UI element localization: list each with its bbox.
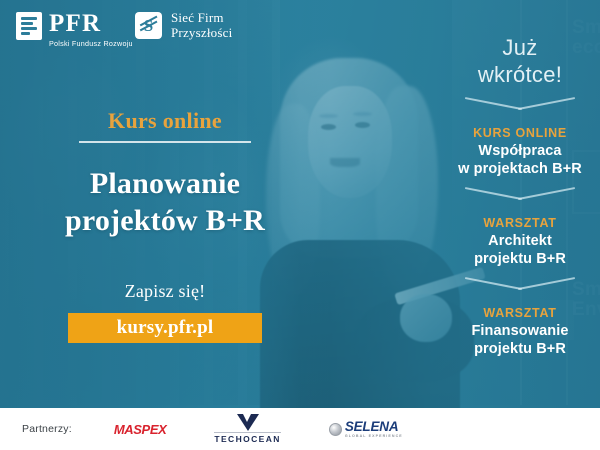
techocean-triangle-icon (237, 414, 259, 431)
list-item[interactable]: WARSZTAT Finansowanie projektu B+R (440, 306, 600, 358)
page-title: Planowanie projektów B+R (0, 165, 330, 239)
pfr-icon-bar (21, 27, 37, 30)
sfp-logo-line1: Sieć Firm (171, 11, 232, 26)
list-item-title-line-2: projektu B+R (440, 340, 600, 358)
kicker-divider (79, 141, 251, 143)
list-item-title-line-1: Architekt (440, 232, 600, 250)
upcoming-list: Już wkrótce! KURS ONLINE Współpraca w pr… (440, 34, 600, 358)
sfp-logo-line2: Przyszłości (171, 26, 232, 41)
techocean-wordmark: TECHOCEAN (214, 432, 280, 445)
coming-soon-line-1: Już (440, 34, 600, 61)
pfr-icon-bar (21, 22, 33, 25)
chevron-stroke-left (465, 187, 522, 200)
list-item-tag: KURS ONLINE (440, 126, 600, 140)
coming-soon-line-2: wkrótce! (440, 61, 600, 88)
partners-label: Partnerzy: (22, 423, 72, 435)
selena-globe-icon (329, 423, 342, 436)
left-content: Kurs online Planowanie projektów B+R Zap… (0, 108, 330, 343)
selena-wordmark-block: SELENA GLOBAL EXPERIENCE (345, 420, 403, 438)
maspex-wordmark-icon[interactable]: MASPEX (114, 422, 167, 437)
list-item-tag: WARSZTAT (440, 306, 600, 320)
pfr-logo: PFR Polski Fundusz Rozwoju (16, 12, 133, 48)
selena-logo[interactable]: SELENA GLOBAL EXPERIENCE (329, 420, 403, 438)
pfr-logo-subtitle: Polski Fundusz Rozwoju (49, 39, 133, 48)
sfp-s-monogram-icon: S (135, 12, 162, 39)
headline-line-2: projektów B+R (0, 202, 330, 239)
triangle-notch (243, 414, 251, 422)
list-item-title: Finansowanie projektu B+R (440, 322, 600, 358)
pfr-icon-bar (21, 17, 37, 20)
pfr-document-icon (16, 12, 42, 40)
cta-lead-text: Zapisz się! (0, 281, 330, 302)
pfr-logo-text: PFR Polski Fundusz Rozwoju (49, 12, 133, 48)
sfp-logo: S Sieć Firm Przyszłości (135, 11, 232, 40)
list-item[interactable]: WARSZTAT Architekt projektu B+R (440, 216, 600, 268)
chevron-down-icon (465, 187, 575, 207)
chevron-stroke-right (518, 97, 575, 110)
partners-footer: Partnerzy: MASPEX TECHOCEAN SELENA GLOBA… (0, 408, 600, 450)
list-item-title-line-2: w projektach B+R (440, 160, 600, 178)
selena-tagline: GLOBAL EXPERIENCE (345, 434, 403, 438)
chevron-stroke-right (518, 187, 575, 200)
promo-banner: Sm eco Sm Env (0, 0, 600, 450)
list-item-tag: WARSZTAT (440, 216, 600, 230)
pfr-logo-name: PFR (49, 12, 133, 36)
list-item-title-line-2: projektu B+R (440, 250, 600, 268)
chevron-down-icon (465, 97, 575, 117)
headline-line-1: Planowanie (0, 165, 330, 202)
list-item-title: Architekt projektu B+R (440, 232, 600, 268)
list-item-title: Współpraca w projektach B+R (440, 142, 600, 178)
chevron-stroke-left (465, 277, 522, 290)
pfr-icon-bar (21, 32, 30, 35)
list-item-title-line-1: Współpraca (440, 142, 600, 160)
sfp-logo-text: Sieć Firm Przyszłości (171, 11, 232, 40)
chevron-down-icon (465, 277, 575, 297)
techocean-logo[interactable]: TECHOCEAN (214, 414, 280, 445)
list-item[interactable]: KURS ONLINE Współpraca w projektach B+R (440, 126, 600, 178)
signup-url-button[interactable]: kursy.pfr.pl (68, 313, 262, 343)
selena-wordmark: SELENA (345, 420, 403, 433)
chevron-stroke-right (518, 277, 575, 290)
course-kicker: Kurs online (0, 108, 330, 134)
chevron-stroke-left (465, 97, 522, 110)
coming-soon-heading: Już wkrótce! (440, 34, 600, 88)
list-item-title-line-1: Finansowanie (440, 322, 600, 340)
